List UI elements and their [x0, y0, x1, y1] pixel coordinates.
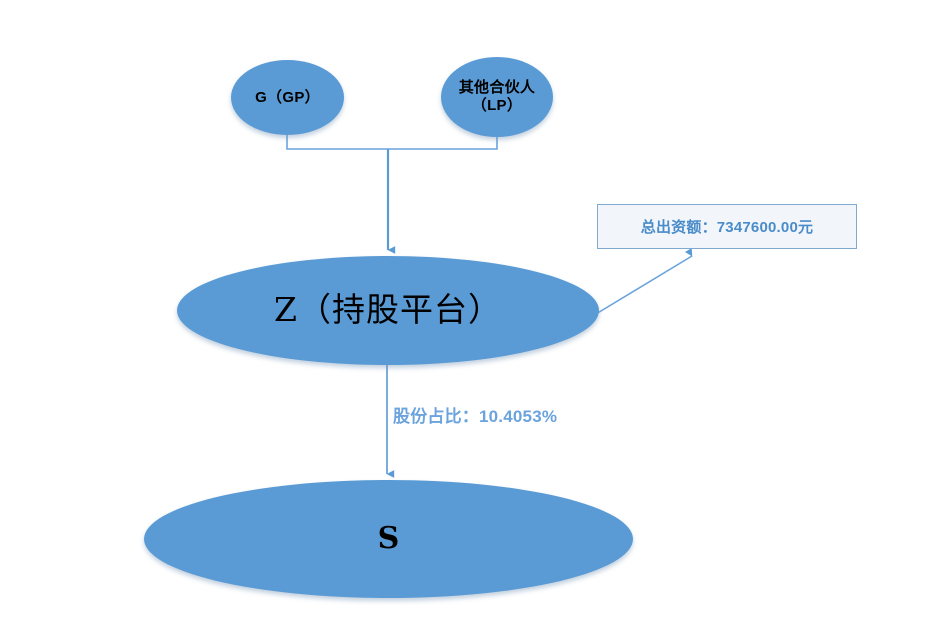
node-limited-partner-label-line1: 其他合伙人	[459, 79, 536, 96]
node-target-company[interactable]: S	[144, 480, 633, 598]
edge-platform-to-callout	[596, 256, 692, 314]
callout-total-capital[interactable]: 总出资额：7347600.00元	[597, 204, 857, 249]
node-limited-partner[interactable]: 其他合伙人 （LP）	[441, 57, 553, 137]
diagram-canvas: G（GP） 其他合伙人 （LP） Z（持股平台） S 总出资额：7347600.…	[0, 0, 930, 644]
node-general-partner[interactable]: G（GP）	[231, 60, 344, 135]
node-limited-partner-label-line2: （LP）	[472, 97, 522, 114]
edge-label-share-ratio: 股份占比：10.4053%	[393, 402, 557, 427]
callout-total-capital-text: 总出资额：7347600.00元	[641, 216, 813, 237]
node-general-partner-label: G（GP）	[255, 89, 320, 107]
node-limited-partner-label: 其他合伙人 （LP）	[459, 79, 536, 114]
edge-label-share-ratio-text: 股份占比：10.4053%	[393, 407, 557, 426]
edge-partners-to-platform	[287, 134, 497, 250]
node-target-company-label: S	[378, 521, 400, 556]
node-holding-platform-label: Z（持股平台）	[274, 291, 502, 330]
node-holding-platform[interactable]: Z（持股平台）	[177, 256, 599, 365]
